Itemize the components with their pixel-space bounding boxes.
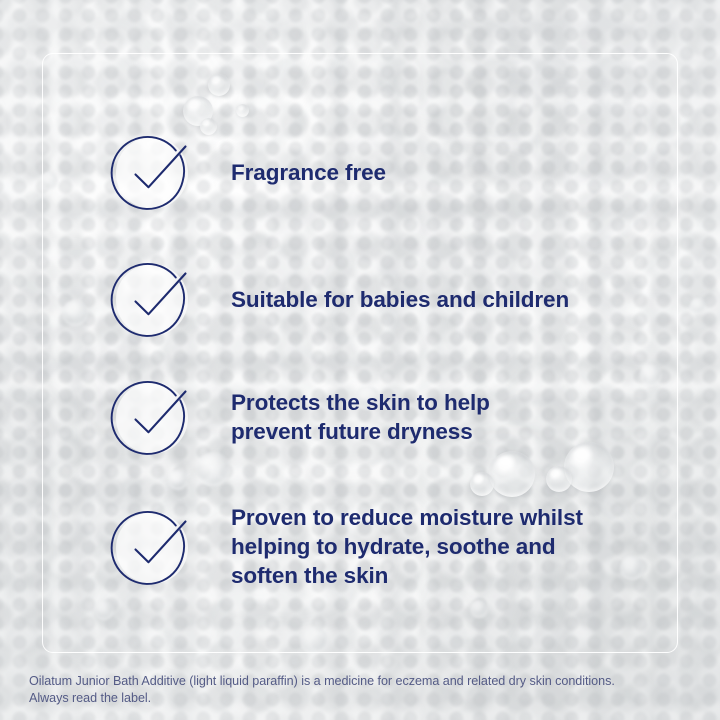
feature-item: Protects the skin to help prevent future… — [113, 378, 490, 456]
feature-label: Protects the skin to help prevent future… — [231, 388, 490, 446]
check-circle-icon — [113, 508, 191, 586]
check-circle-icon — [113, 133, 191, 211]
feature-item: Proven to reduce moisture whilst helping… — [113, 503, 583, 590]
feature-item: Suitable for babies and children — [113, 260, 569, 338]
footer-disclaimer: Oilatum Junior Bath Additive (light liqu… — [29, 673, 699, 707]
background-vignette — [0, 0, 720, 720]
feature-label: Fragrance free — [231, 158, 386, 187]
feature-label: Suitable for babies and children — [231, 285, 569, 314]
promo-card: Fragrance free Suitable for babies and c… — [0, 0, 720, 720]
feature-item: Fragrance free — [113, 133, 386, 211]
check-circle-icon — [113, 260, 191, 338]
check-circle-icon — [113, 378, 191, 456]
feature-label: Proven to reduce moisture whilst helping… — [231, 503, 583, 590]
